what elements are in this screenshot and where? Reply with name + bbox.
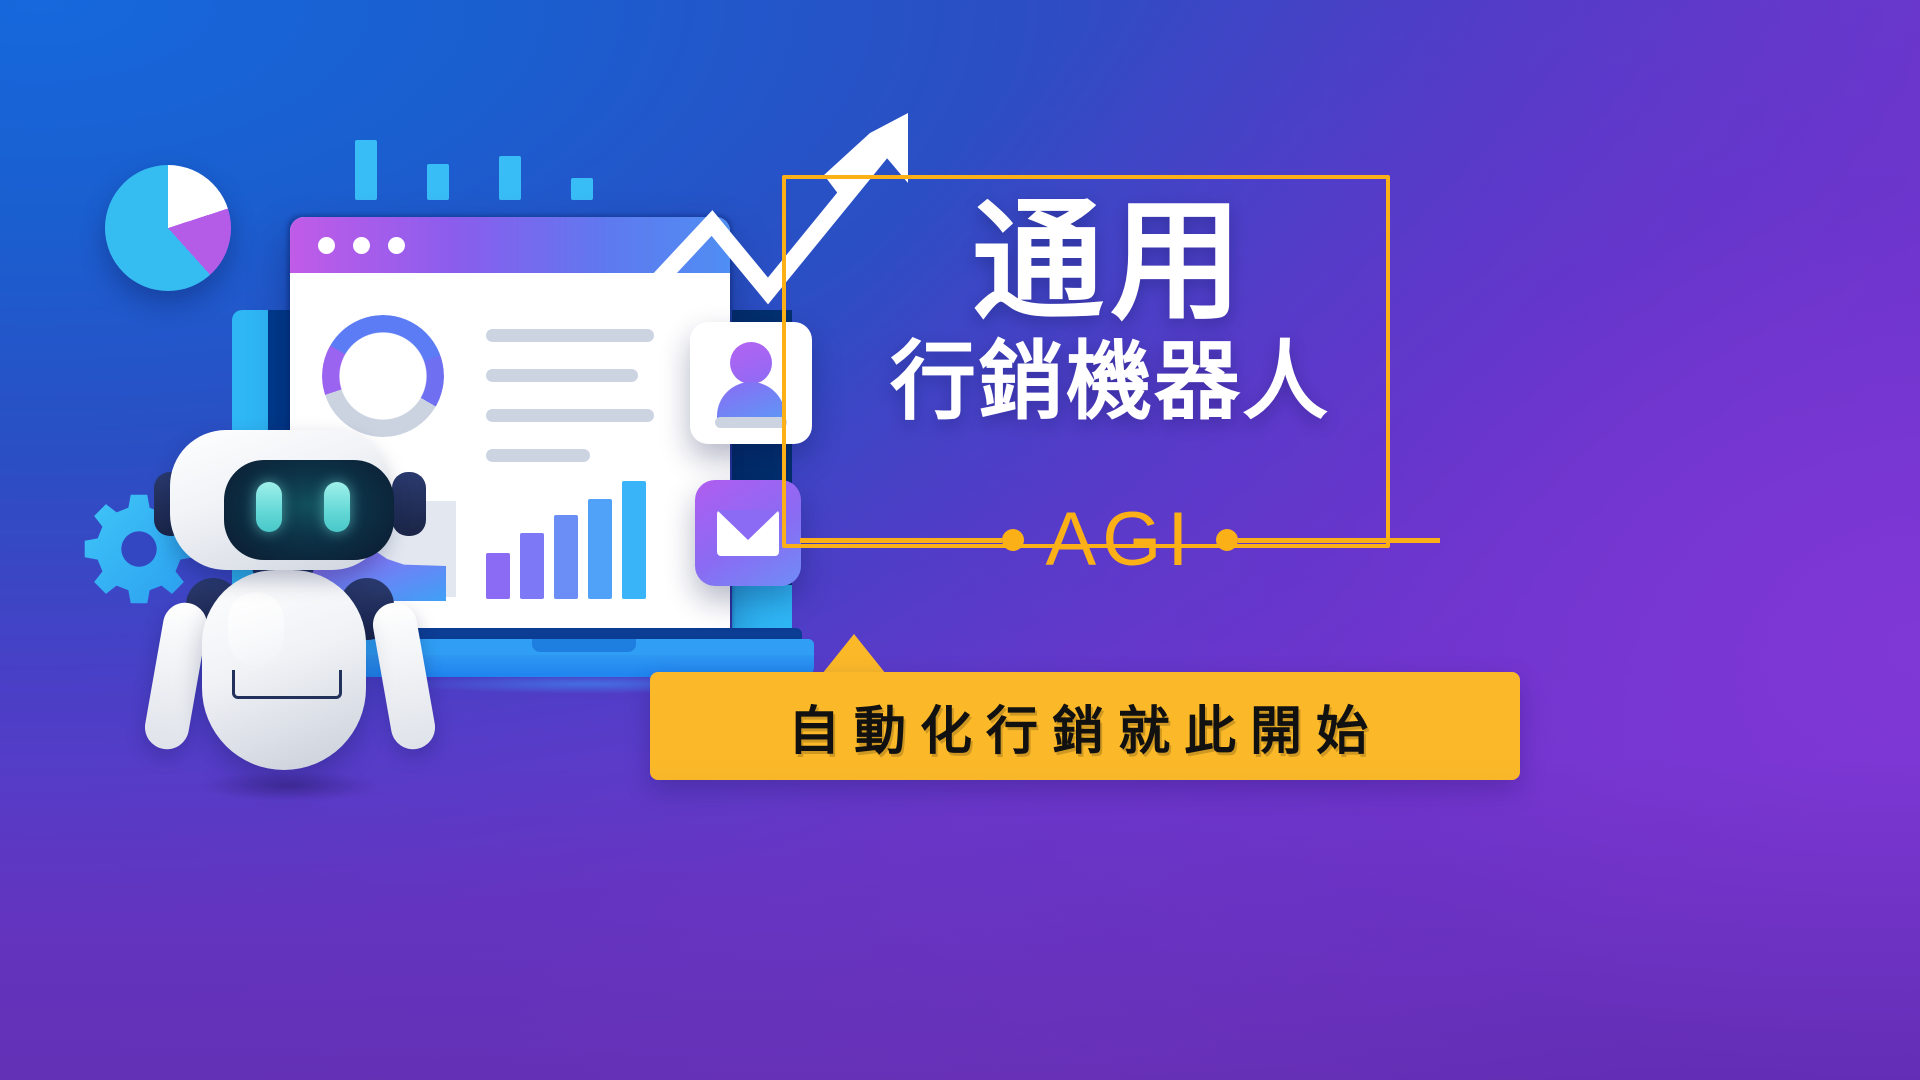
cta-banner-text: 自動化行銷就此開始 xyxy=(788,689,1382,764)
cta-banner[interactable]: 自動化行銷就此開始 xyxy=(650,672,1520,780)
placeholder-text-line xyxy=(486,409,654,422)
robot-eye-right xyxy=(324,482,350,532)
robot-visor xyxy=(224,460,394,560)
left-pie-chart xyxy=(105,165,231,291)
headline-line-2: 行銷機器人 xyxy=(830,334,1390,430)
avatar-body xyxy=(717,382,785,418)
headline-block: 通用 行銷機器人 xyxy=(830,195,1390,430)
robot-ear-right xyxy=(392,472,426,536)
window-dot-close[interactable] xyxy=(318,237,335,254)
robot-chest-seam xyxy=(232,670,342,699)
placeholder-text-line xyxy=(486,329,654,342)
top-accent-bar-chart xyxy=(355,140,595,200)
robot-arm-right xyxy=(369,599,438,752)
robot-eye-left xyxy=(256,482,282,532)
robot-arm-left xyxy=(141,599,210,752)
envelope-glyph xyxy=(717,510,779,556)
marketing-robot-mascot xyxy=(140,420,440,820)
laptop-trackpad-notch xyxy=(532,639,636,652)
placeholder-text-line xyxy=(486,449,590,462)
agi-dot-left xyxy=(1002,529,1024,551)
avatar-head xyxy=(730,342,772,384)
robot-body-highlight xyxy=(228,592,284,666)
agi-tagline: AGI xyxy=(1024,502,1217,578)
dashboard-bar-chart xyxy=(486,481,666,599)
robot-shadow xyxy=(160,765,420,807)
dashboard-donut-chart xyxy=(322,315,444,437)
agi-tagline-row: AGI xyxy=(800,495,1440,585)
robot-head xyxy=(170,430,388,570)
agi-dot-right xyxy=(1216,529,1238,551)
cta-banner-pointer xyxy=(822,634,886,674)
window-dot-minimize[interactable] xyxy=(353,237,370,254)
headline-line-1: 通用 xyxy=(830,195,1390,330)
avatar-name-line xyxy=(715,417,787,428)
agi-rule-left xyxy=(800,538,1002,543)
agi-rule-right xyxy=(1238,538,1440,543)
window-dot-maximize[interactable] xyxy=(388,237,405,254)
marketing-banner: 通用 行銷機器人 AGI 自動化行銷就此開始 xyxy=(0,0,1920,1080)
placeholder-text-line xyxy=(486,369,638,382)
